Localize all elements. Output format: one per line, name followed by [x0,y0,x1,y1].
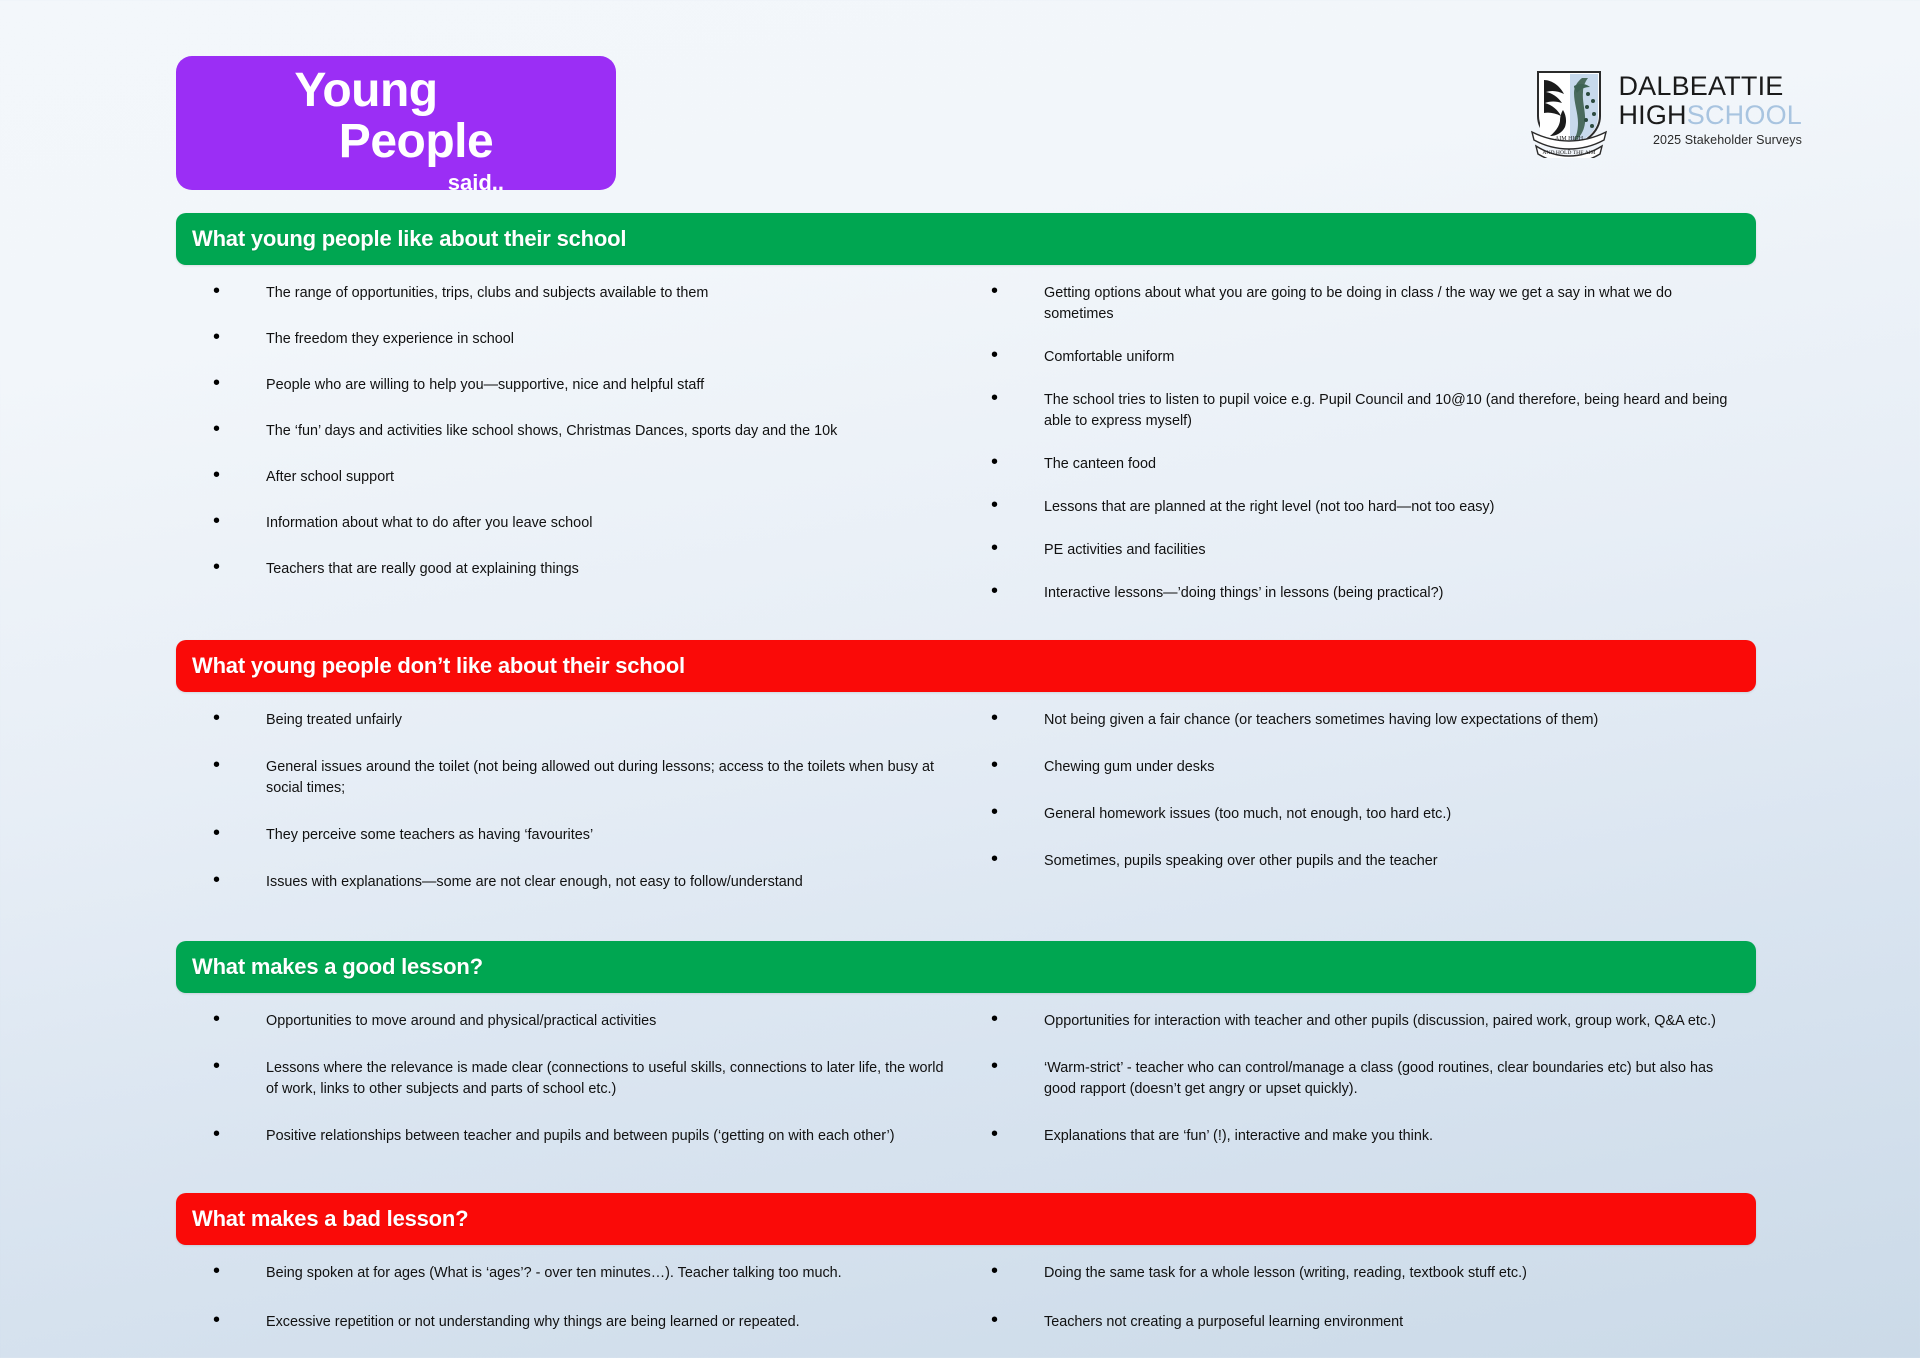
list-item: Not being given a fair chance (or teache… [984,710,1736,731]
bullet-list: The range of opportunities, trips, clubs… [206,283,946,580]
list-item: The canteen food [984,454,1736,475]
list-item: The range of opportunities, trips, clubs… [206,283,946,304]
column-left: Being spoken at for ages (What is ‘ages’… [176,1245,966,1358]
list-item: Chewing gum under desks [984,757,1736,778]
list-item: General issues around the toilet (not be… [206,757,946,799]
bullet-list: Being spoken at for ages (What is ‘ages’… [206,1263,946,1358]
list-item: Doing the same task for a whole lesson (… [984,1263,1736,1284]
list-item: Information about what to do after you l… [206,513,946,534]
sections-sheet: What young people like about their schoo… [176,0,1756,1358]
column-right: Opportunities for interaction with teach… [966,993,1756,1173]
list-item: Positive relationships between teacher a… [206,1126,946,1147]
bullet-list: Getting options about what you are going… [984,283,1736,604]
list-item: PE activities and facilities [984,540,1736,561]
list-item: Being spoken at for ages (What is ‘ages’… [206,1263,946,1284]
section-header-dislikes: What young people don’t like about their… [176,640,1756,692]
section-dislikes: What young people don’t like about their… [176,640,1756,919]
list-item: Sometimes, pupils speaking over other pu… [984,851,1736,872]
section-columns: Being treated unfairly General issues ar… [176,692,1756,919]
list-item: Opportunities for interaction with teach… [984,1011,1736,1032]
section-title: What young people don’t like about their… [192,653,685,679]
section-header-likes: What young people like about their schoo… [176,213,1756,265]
list-item: The ‘fun’ days and activities like schoo… [206,421,946,442]
list-item: Teachers not creating a purposeful learn… [984,1312,1736,1333]
bullet-list: Opportunities for interaction with teach… [984,1011,1736,1147]
section-title: What makes a good lesson? [192,954,483,980]
column-left: The range of opportunities, trips, clubs… [176,265,966,626]
list-item: Comfortable uniform [984,347,1736,368]
column-left: Being treated unfairly General issues ar… [176,692,966,919]
section-likes: What young people like about their schoo… [176,213,1756,626]
column-right: Getting options about what you are going… [966,265,1756,626]
list-item: The freedom they experience in school [206,329,946,350]
list-item: People who are willing to help you—suppo… [206,375,946,396]
list-item: After school support [206,467,946,488]
section-header-bad-lesson: What makes a bad lesson? [176,1193,1756,1245]
list-item: ‘Warm-strict’ - teacher who can control/… [984,1058,1736,1100]
bullet-list: Opportunities to move around and physica… [206,1011,946,1147]
list-item: Opportunities to move around and physica… [206,1011,946,1032]
list-item: Explanations that are ‘fun’ (!), interac… [984,1126,1736,1147]
list-item: Issues with explanations—some are not cl… [206,872,946,893]
section-header-good-lesson: What makes a good lesson? [176,941,1756,993]
list-item: Excessive repetition or not understandin… [206,1312,946,1333]
list-item: Teachers that are really good at explain… [206,559,946,580]
list-item: Interactive lessons—’doing things’ in le… [984,583,1736,604]
bullet-list: Not being given a fair chance (or teache… [984,710,1736,872]
section-columns: Opportunities to move around and physica… [176,993,1756,1173]
list-item: Lessons that are planned at the right le… [984,497,1736,518]
column-right: Not being given a fair chance (or teache… [966,692,1756,919]
section-columns: The range of opportunities, trips, clubs… [176,265,1756,626]
section-title: What makes a bad lesson? [192,1206,468,1232]
section-columns: Being spoken at for ages (What is ‘ages’… [176,1245,1756,1358]
column-left: Opportunities to move around and physica… [176,993,966,1173]
list-item: They perceive some teachers as having ‘f… [206,825,946,846]
bullet-list: Doing the same task for a whole lesson (… [984,1263,1736,1358]
bullet-list: Being treated unfairly General issues ar… [206,710,946,893]
list-item: Lessons where the relevance is made clea… [206,1058,946,1100]
section-bad-lesson: What makes a bad lesson? Being spoken at… [176,1193,1756,1358]
list-item: General homework issues (too much, not e… [984,804,1736,825]
list-item: Getting options about what you are going… [984,283,1736,325]
section-title: What young people like about their schoo… [192,226,626,252]
list-item: The school tries to listen to pupil voic… [984,390,1736,432]
column-right: Doing the same task for a whole lesson (… [966,1245,1756,1358]
list-item: Being treated unfairly [206,710,946,731]
section-good-lesson: What makes a good lesson? Opportunities … [176,941,1756,1173]
